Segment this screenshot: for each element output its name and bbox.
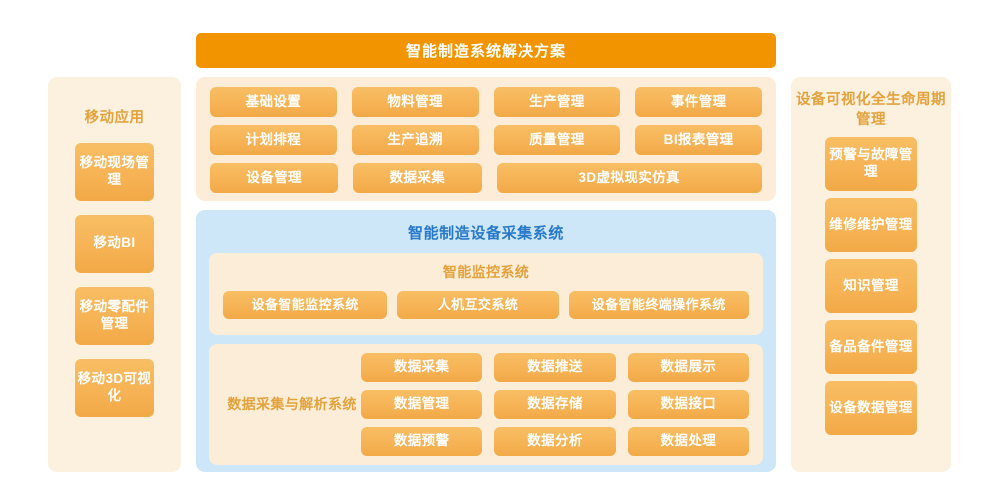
left-sidebar-panel: 移动应用 移动现场管理 移动BI 移动零配件管理 移动3D可视化: [48, 77, 181, 472]
data-processing[interactable]: 数据处理: [628, 427, 749, 456]
sidebar-item-knowledge-management[interactable]: 知识管理: [825, 259, 917, 313]
data-storage[interactable]: 数据存储: [494, 390, 615, 419]
right-sidebar-panel: 设备可视化全生命周期管理 预警与故障管理 维修维护管理 知识管理 备品备件管理 …: [791, 77, 951, 472]
module-equipment-management[interactable]: 设备管理: [210, 163, 338, 193]
module-material-management[interactable]: 物料管理: [352, 87, 479, 117]
sidebar-item-alarm-fault-management[interactable]: 预警与故障管理: [825, 137, 917, 191]
data-interface[interactable]: 数据接口: [628, 390, 749, 419]
module-panel: 基础设置 物料管理 生产管理 事件管理 计划排程 生产追溯 质量管理 BI报表管…: [196, 77, 776, 201]
monitoring-equipment-smart-terminal-os[interactable]: 设备智能终端操作系统: [569, 291, 749, 319]
monitoring-panel: 智能监控系统 设备智能监控系统 人机互交系统 设备智能终端操作系统: [209, 253, 763, 335]
sidebar-item-mobile-bi[interactable]: 移动BI: [75, 215, 154, 273]
module-data-acquisition[interactable]: 数据采集: [353, 163, 481, 193]
sidebar-item-mobile-parts-management[interactable]: 移动零配件管理: [75, 287, 154, 345]
data-acquisition[interactable]: 数据采集: [361, 353, 482, 382]
module-3d-vr-simulation[interactable]: 3D虚拟现实仿真: [497, 163, 762, 193]
center-column: 基础设置 物料管理 生产管理 事件管理 计划排程 生产追溯 质量管理 BI报表管…: [196, 77, 776, 472]
sidebar-item-mobile-site-management[interactable]: 移动现场管理: [75, 143, 154, 201]
data-row: 数据预警 数据分析 数据处理: [361, 427, 749, 456]
monitoring-row: 设备智能监控系统 人机互交系统 设备智能终端操作系统: [223, 291, 749, 319]
monitoring-equipment-smart-monitoring-system[interactable]: 设备智能监控系统: [223, 291, 387, 319]
data-display[interactable]: 数据展示: [628, 353, 749, 382]
module-quality-management[interactable]: 质量管理: [494, 125, 621, 155]
module-row: 计划排程 生产追溯 质量管理 BI报表管理: [210, 125, 762, 155]
left-sidebar-title: 移动应用: [85, 109, 145, 129]
module-plan-scheduling[interactable]: 计划排程: [210, 125, 337, 155]
data-row: 数据采集 数据推送 数据展示: [361, 353, 749, 382]
solution-banner-title: 智能制造系统解决方案: [196, 33, 776, 68]
monitoring-human-machine-interaction-system[interactable]: 人机互交系统: [397, 291, 558, 319]
acquisition-panel-title: 智能制造设备采集系统: [209, 210, 763, 253]
data-row: 数据管理 数据存储 数据接口: [361, 390, 749, 419]
data-early-warning[interactable]: 数据预警: [361, 427, 482, 456]
data-system-panel: 数据采集与解析系统 数据采集 数据推送 数据展示 数据管理 数据存储 数据接口 …: [209, 344, 763, 465]
sidebar-item-spare-parts-management[interactable]: 备品备件管理: [825, 320, 917, 374]
right-sidebar-title: 设备可视化全生命周期管理: [791, 91, 951, 130]
sidebar-item-equipment-data-management[interactable]: 设备数据管理: [825, 381, 917, 435]
module-bi-report-management[interactable]: BI报表管理: [635, 125, 762, 155]
sidebar-item-mobile-3d-visualization[interactable]: 移动3D可视化: [75, 359, 154, 417]
module-basic-settings[interactable]: 基础设置: [210, 87, 337, 117]
sidebar-item-maintenance-management[interactable]: 维修维护管理: [825, 198, 917, 252]
module-event-management[interactable]: 事件管理: [635, 87, 762, 117]
acquisition-panel: 智能制造设备采集系统 智能监控系统 设备智能监控系统 人机互交系统 设备智能终端…: [196, 210, 776, 472]
data-system-grid: 数据采集 数据推送 数据展示 数据管理 数据存储 数据接口 数据预警 数据分析 …: [361, 353, 749, 456]
data-analysis[interactable]: 数据分析: [494, 427, 615, 456]
module-row: 设备管理 数据采集 3D虚拟现实仿真: [210, 163, 762, 193]
data-management[interactable]: 数据管理: [361, 390, 482, 419]
module-production-traceability[interactable]: 生产追溯: [352, 125, 479, 155]
data-system-label: 数据采集与解析系统: [223, 395, 361, 414]
data-push[interactable]: 数据推送: [494, 353, 615, 382]
module-row: 基础设置 物料管理 生产管理 事件管理: [210, 87, 762, 117]
architecture-diagram: 智能制造系统解决方案 移动应用 移动现场管理 移动BI 移动零配件管理 移动3D…: [0, 0, 1000, 489]
monitoring-panel-title: 智能监控系统: [223, 262, 749, 282]
module-production-management[interactable]: 生产管理: [494, 87, 621, 117]
